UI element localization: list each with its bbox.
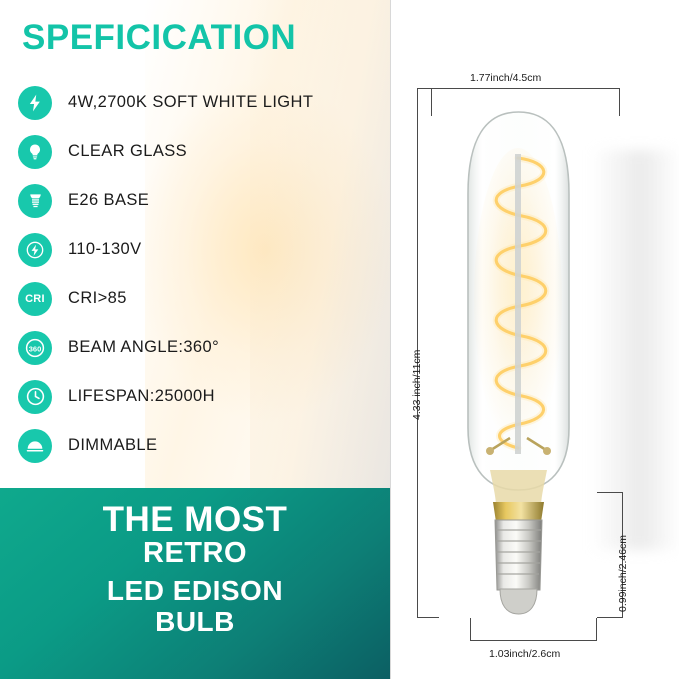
base-height-tick-bottom: [597, 617, 623, 618]
banner-line-3: LED EDISON: [0, 576, 390, 607]
led-edison-bulb-illustration: [446, 98, 591, 628]
dimmer-icon: [18, 429, 52, 463]
cri-icon: CRI: [18, 282, 52, 316]
filament-stem: [515, 154, 521, 454]
list-item: E26 BASE: [18, 176, 378, 225]
e26-screw-base: [495, 520, 542, 614]
list-item: DIMMABLE: [18, 421, 378, 470]
height-tick-bottom: [417, 617, 439, 618]
specification-list: 4W,2700K SOFT WHITE LIGHT CLEAR GLASS: [18, 78, 378, 470]
base-icon: [18, 184, 52, 218]
list-item: 110-130V: [18, 225, 378, 274]
base-width-tick-left: [470, 618, 471, 641]
promo-banner: THE MOST RETRO LED EDISON BULB: [0, 488, 390, 679]
list-item-label: 110-130V: [68, 240, 142, 259]
list-item-label: LIFESPAN:25000H: [68, 387, 215, 406]
lead-tip-right: [543, 447, 551, 455]
cri-icon-text: CRI: [25, 293, 45, 305]
width-tick-left: [431, 88, 432, 116]
list-item-label: 4W,2700K SOFT WHITE LIGHT: [68, 93, 313, 112]
height-dimension-label: 4.33 inch/11cm: [411, 350, 423, 420]
banner-line-1: THE MOST: [0, 502, 390, 538]
product-shadow: [591, 150, 679, 550]
banner-line-4: BULB: [0, 607, 390, 638]
list-item-label: CLEAR GLASS: [68, 142, 187, 161]
base-height-dimension-label: 0.99inch/2.46cm: [617, 535, 629, 612]
list-item: CRI CRI>85: [18, 274, 378, 323]
voltage-icon: [18, 233, 52, 267]
base-width-dimension-label: 1.03inch/2.6cm: [489, 648, 560, 660]
clock-icon: [18, 380, 52, 414]
list-item-label: BEAM ANGLE:360°: [68, 338, 219, 357]
list-item: 360 BEAM ANGLE:360°: [18, 323, 378, 372]
product-dimension-panel: 1.77inch/4.5cm 4.33 inch/11cm 0.99inch/2…: [391, 0, 679, 679]
bulb-collar: [493, 502, 544, 522]
lead-tip-left: [486, 447, 494, 455]
bolt-icon: [18, 86, 52, 120]
page-title: SPEFICICATION: [22, 18, 296, 58]
base-tip: [500, 589, 537, 614]
list-item-label: CRI>85: [68, 289, 127, 308]
base-width-dimension-line: [470, 640, 597, 641]
specification-panel: SPEFICICATION 4W,2700K SOFT WHITE LIGHT …: [0, 0, 390, 679]
list-item: LIFESPAN:25000H: [18, 372, 378, 421]
width-dimension-line: [431, 88, 620, 89]
list-item: CLEAR GLASS: [18, 127, 378, 176]
base-height-tick-top: [597, 492, 623, 493]
height-tick-top: [417, 88, 439, 89]
svg-text:360: 360: [29, 344, 42, 353]
banner-line-2: RETRO: [0, 538, 390, 568]
list-item-label: E26 BASE: [68, 191, 149, 210]
list-item-label: DIMMABLE: [68, 436, 157, 455]
base-width-tick-right: [596, 618, 597, 641]
product-infographic: SPEFICICATION 4W,2700K SOFT WHITE LIGHT …: [0, 0, 679, 679]
bulb-icon: [18, 135, 52, 169]
width-dimension-label: 1.77inch/4.5cm: [470, 72, 541, 84]
width-tick-right: [619, 88, 620, 116]
list-item: 4W,2700K SOFT WHITE LIGHT: [18, 78, 378, 127]
beam-angle-icon: 360: [18, 331, 52, 365]
